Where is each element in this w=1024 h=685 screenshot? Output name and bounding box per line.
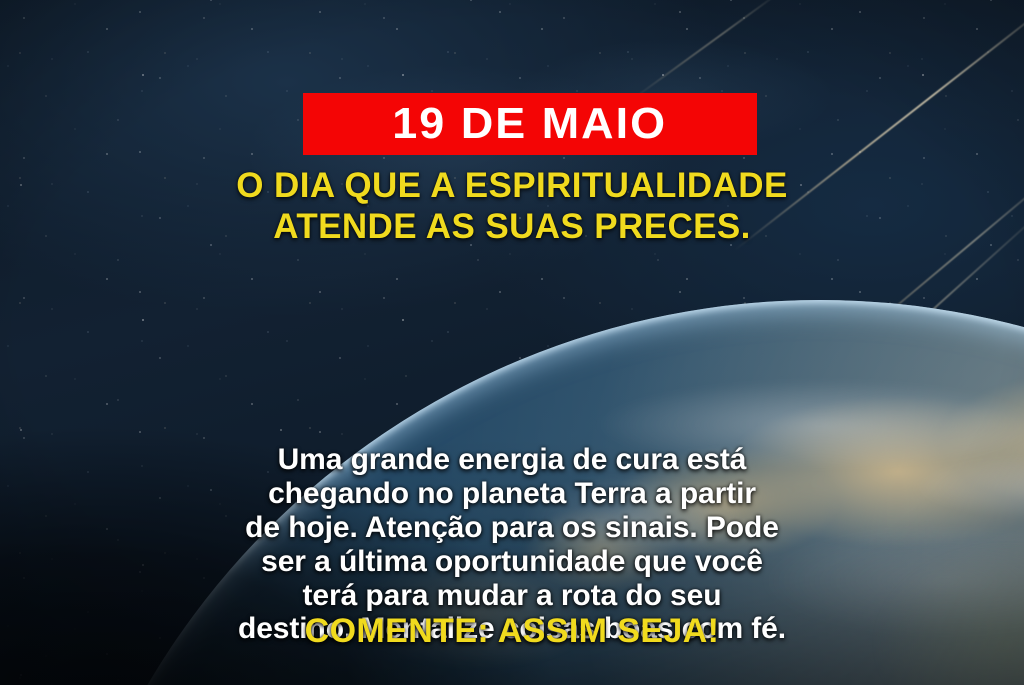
headline-line-2: ATENDE AS SUAS PRECES. xyxy=(36,207,988,248)
call-to-action-label: COMENTE: ASSIM SEJA! xyxy=(305,612,720,650)
body-copy-line-1: Uma grande energia de cura está xyxy=(50,443,974,477)
poster-canvas: 19 DE MAIO O DIA QUE A ESPIRITUALIDADE A… xyxy=(0,0,1024,685)
body-copy-line-2: chegando no planeta Terra a partir xyxy=(50,477,974,511)
headline: O DIA QUE A ESPIRITUALIDADE ATENDE AS SU… xyxy=(0,166,1024,248)
call-to-action: COMENTE: ASSIM SEJA! xyxy=(0,612,1024,651)
date-banner-label: 19 DE MAIO xyxy=(393,102,668,146)
body-copy-line-5: terá para mudar a rota do seu xyxy=(50,579,974,613)
poster-content: 19 DE MAIO O DIA QUE A ESPIRITUALIDADE A… xyxy=(0,0,1024,685)
body-copy-line-3: de hoje. Atenção para os sinais. Pode xyxy=(50,511,974,545)
date-banner: 19 DE MAIO xyxy=(303,93,757,155)
headline-line-1: O DIA QUE A ESPIRITUALIDADE xyxy=(36,166,988,207)
body-copy-line-4: ser a última oportunidade que você xyxy=(50,545,974,579)
